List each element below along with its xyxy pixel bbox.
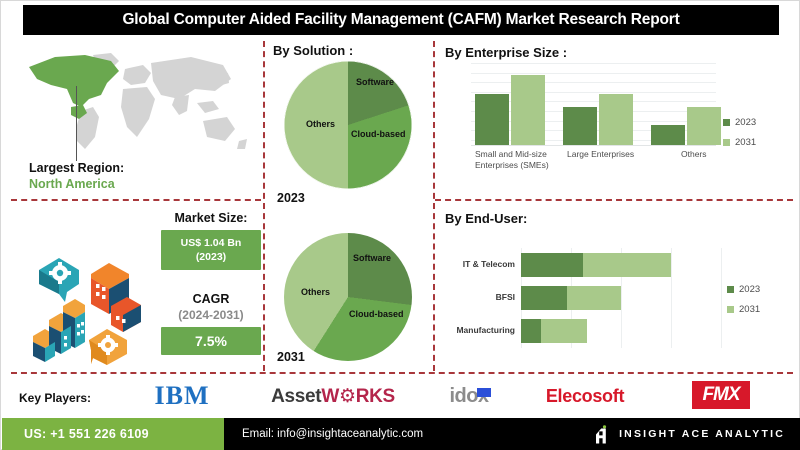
enterprise-group-others [651,63,729,145]
bar-it-telecom-2023 [521,253,583,277]
bar-large-2023 [563,107,597,145]
fmx-wordmark: FMX [692,381,749,409]
pie-2023-label-others: Others [306,119,335,129]
legend-item-2023: 2023 [723,117,756,128]
logo-idox: idox [425,381,515,411]
north-america-highlight [29,55,119,119]
largest-region-label: Largest Region: [29,161,124,176]
bar-bfsi-2031 [567,286,621,310]
assetworks-text-rks: RKS [356,386,395,407]
legend-swatch-2031 [723,139,730,146]
enduser-category-it-telecom: IT & Telecom [435,259,515,269]
ibm-wordmark: IBM [155,381,210,411]
divider-vertical-left [263,41,265,371]
pie-2031-label-cloud: Cloud-based [349,309,404,319]
by-enduser-heading: By End-User: [445,211,527,226]
enterprise-category-large: Large Enterprises [567,149,653,160]
insightace-a-mark-icon [596,425,609,444]
enduser-legend-item-2023: 2023 [727,284,760,295]
enduser-category-manufacturing: Manufacturing [435,325,515,335]
divider-bottom-horizontal [11,372,793,374]
market-size-label: Market Size: [161,211,261,225]
bar-others-2031 [687,107,721,145]
isometric-buildings-icon [19,244,149,369]
pie-2023-label-software: Software [356,77,394,87]
page-title-bar: Global Computer Aided Facility Managemen… [23,5,779,35]
insightace-brand-text: INSIGHT ACE ANALYTIC [619,428,785,440]
isometric-buildings-illustration [19,244,149,369]
logo-assetworks: AssetW⚙RKS [253,381,413,411]
enterprise-group-smes [475,63,553,145]
market-size-block: Market Size: US$ 1.04 Bn (2023) CAGR (20… [161,211,261,355]
pie-2023-label-cloud: Cloud-based [351,129,406,139]
bar-bfsi-2023 [521,286,567,310]
bar-others-2023 [651,125,685,146]
cagr-value-badge: 7.5% [161,327,261,355]
logo-elecosoft: Elecosoft [525,381,645,411]
world-map [15,45,255,165]
bar-large-2031 [599,94,633,145]
largest-region-block: Largest Region: North America [29,161,124,192]
market-size-badge: US$ 1.04 Bn (2023) [161,230,261,270]
key-players-label: Key Players: [19,391,91,405]
divider-right-horizontal [435,199,793,201]
enduser-bar-manufacturing [521,319,721,343]
assetworks-text-w: W [321,386,339,407]
enduser-category-bfsi: BFSI [435,292,515,302]
pie-chart-2031 [284,233,412,361]
largest-region-value: North America [29,176,124,192]
footer-brand-logo: INSIGHT ACE ANALYTIC [596,418,785,450]
enduser-bar-chart [521,248,721,348]
assetworks-text-asset: Asset [271,386,321,407]
enduser-legend-label-2023: 2023 [739,284,760,295]
enterprise-group-large [563,63,641,145]
map-pointer-line [76,86,77,161]
bar-smes-2023 [475,94,509,145]
divider-left-horizontal [11,199,261,201]
gear-o-icon: ⚙ [339,386,356,407]
pie-2031-label-software: Software [353,253,391,263]
bar-smes-2031 [511,75,545,145]
footer-email[interactable]: Email: info@insightaceanalytic.com [224,428,423,440]
world-map-icon [15,45,255,165]
enduser-legend-swatch-2031 [727,306,734,313]
footer-phone-block: US: +1 551 226 6109 [2,418,224,450]
enduser-legend-swatch-2023 [727,286,734,293]
bar-manufacturing-2023 [521,319,541,343]
market-size-year: (2023) [165,250,257,264]
pie-2023-year: 2023 [277,191,305,205]
legend-swatch-2023 [723,119,730,126]
enduser-bar-bfsi [521,286,721,310]
enduser-legend-label-2031: 2031 [739,304,760,315]
enterprise-category-smes: Small and Mid-size Enterprises (SMEs) [475,149,561,171]
page-title: Global Computer Aided Facility Managemen… [122,11,679,29]
footer-phone: US: +1 551 226 6109 [2,427,149,441]
assetworks-wordmark: AssetW⚙RKS [271,385,395,408]
divider-vertical-right [433,41,435,371]
enduser-legend: 2023 2031 [727,284,760,324]
by-enterprise-heading: By Enterprise Size : [445,45,567,60]
logo-ibm: IBM [119,381,245,411]
by-solution-heading: By Solution : [273,43,353,58]
elecosoft-wordmark: Elecosoft [546,386,624,407]
enduser-bar-it-telecom [521,253,721,277]
legend-item-2031: 2031 [723,137,756,148]
cagr-period: (2024-2031) [161,308,261,322]
bar-manufacturing-2031 [541,319,587,343]
pie-2031-label-others: Others [301,287,330,297]
infographic-root: Global Computer Aided Facility Managemen… [0,0,800,450]
idox-accent-icon [477,388,491,397]
legend-label-2031: 2031 [735,137,756,148]
bar-it-telecom-2031 [583,253,671,277]
cagr-label: CAGR [161,292,261,306]
market-size-value: US$ 1.04 Bn [165,236,257,250]
pie-2031-year: 2031 [277,350,305,364]
logo-fmx: FMX [661,379,781,411]
enduser-legend-item-2031: 2031 [727,304,760,315]
enterprise-bar-chart [471,63,716,145]
legend-label-2023: 2023 [735,117,756,128]
enterprise-legend: 2023 2031 [723,117,756,157]
